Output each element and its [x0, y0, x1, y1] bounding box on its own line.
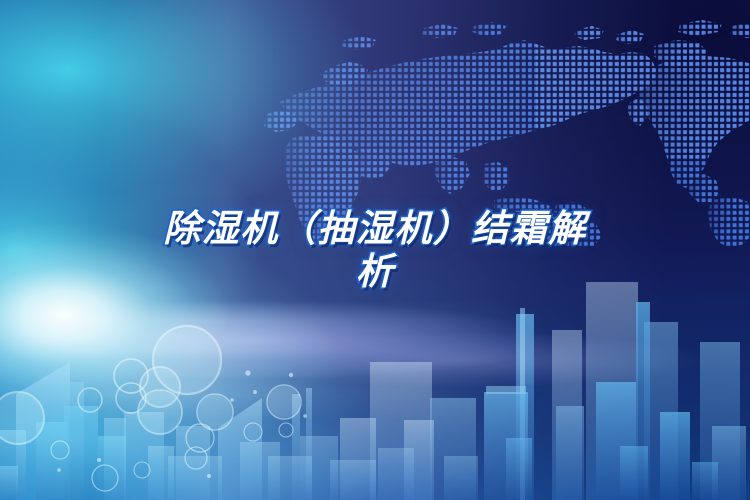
city-skyline — [0, 270, 750, 500]
poster-banner: 除湿机（抽湿机）结霜解 析 — [0, 0, 750, 500]
title-line-1: 除湿机（抽湿机）结霜解 — [0, 207, 750, 250]
poster-title: 除湿机（抽湿机）结霜解 析 — [0, 207, 750, 293]
title-line-2: 析 — [0, 250, 750, 293]
